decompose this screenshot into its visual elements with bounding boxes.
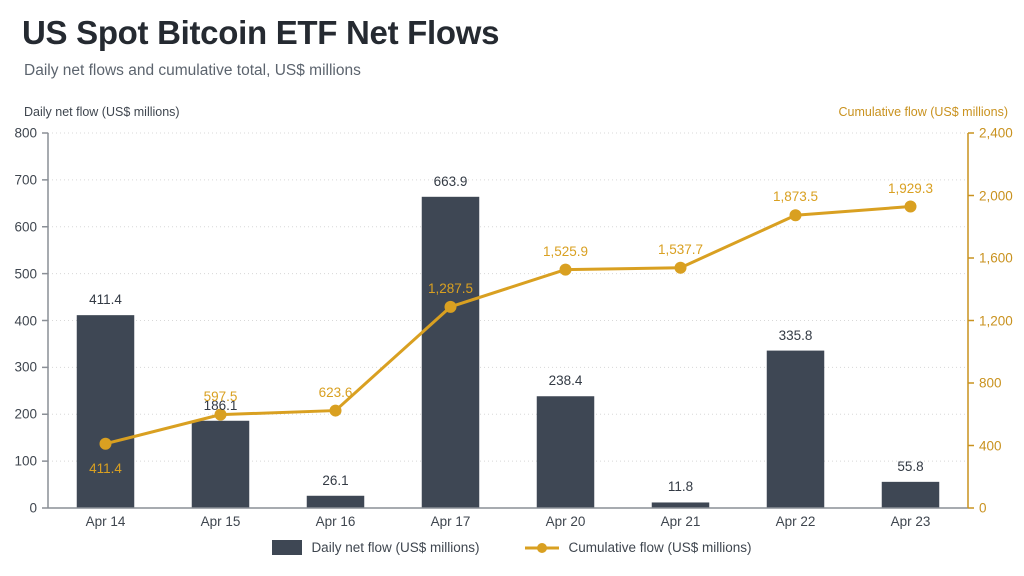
y2-axis-tick-label: 1,600 bbox=[979, 251, 1013, 266]
line-value-label: 411.4 bbox=[89, 461, 122, 476]
bar-value-label: 11.8 bbox=[668, 479, 693, 494]
y-axis-tick-label: 200 bbox=[0, 407, 37, 422]
bar-value-label: 26.1 bbox=[322, 473, 348, 488]
bar bbox=[537, 396, 595, 508]
x-axis-tick-label: Apr 23 bbox=[891, 514, 931, 529]
y-axis-tick-label: 100 bbox=[0, 454, 37, 469]
x-axis-tick-label: Apr 16 bbox=[316, 514, 356, 529]
line-marker bbox=[560, 264, 572, 276]
gridlines bbox=[48, 133, 968, 461]
line-value-label: 1,537.7 bbox=[658, 242, 703, 257]
line-marker bbox=[675, 262, 687, 274]
legend-line-marker-icon bbox=[525, 541, 559, 555]
line-marker bbox=[330, 405, 342, 417]
y-axis-tick-label: 800 bbox=[0, 126, 37, 141]
line-value-label: 1,525.9 bbox=[543, 244, 588, 259]
bar-value-label: 663.9 bbox=[434, 174, 468, 189]
legend-label: Daily net flow (US$ millions) bbox=[311, 540, 479, 555]
line-marker bbox=[905, 201, 917, 213]
line-marker bbox=[445, 301, 457, 313]
x-axis-tick-label: Apr 21 bbox=[661, 514, 701, 529]
y2-axis-tick-label: 2,000 bbox=[979, 188, 1013, 203]
bar bbox=[192, 421, 250, 508]
bar-value-label: 335.8 bbox=[779, 328, 813, 343]
right-axis-title: Cumulative flow (US$ millions) bbox=[839, 105, 1009, 119]
y2-axis-tick-label: 1,200 bbox=[979, 313, 1013, 328]
line-marker bbox=[100, 438, 112, 450]
bar bbox=[767, 351, 825, 508]
plot-svg bbox=[48, 133, 968, 508]
page-title: US Spot Bitcoin ETF Net Flows bbox=[22, 14, 499, 52]
line-value-label: 1,873.5 bbox=[773, 189, 818, 204]
x-axis-tick-label: Apr 14 bbox=[86, 514, 126, 529]
legend-item-daily-net-flow[interactable]: Daily net flow (US$ millions) bbox=[272, 540, 479, 555]
line-value-label: 623.6 bbox=[319, 385, 353, 400]
x-axis-tick-label: Apr 15 bbox=[201, 514, 241, 529]
legend-bar-swatch-icon bbox=[272, 540, 302, 555]
y2-axis-tick-label: 0 bbox=[979, 501, 987, 516]
y-axis-tick-label: 300 bbox=[0, 360, 37, 375]
line-value-label: 597.5 bbox=[204, 389, 238, 404]
plot-area bbox=[48, 133, 968, 508]
legend-item-cumulative-flow[interactable]: Cumulative flow (US$ millions) bbox=[525, 540, 751, 555]
bar bbox=[77, 315, 135, 508]
bar bbox=[652, 502, 710, 508]
y-axis-tick-label: 600 bbox=[0, 219, 37, 234]
legend-label: Cumulative flow (US$ millions) bbox=[568, 540, 751, 555]
y-axis-tick-label: 700 bbox=[0, 172, 37, 187]
line-marker bbox=[790, 209, 802, 221]
y-axis-tick-label: 400 bbox=[0, 313, 37, 328]
bar-value-label: 55.8 bbox=[897, 459, 923, 474]
line-value-label: 1,287.5 bbox=[428, 281, 473, 296]
bar bbox=[307, 496, 365, 508]
x-axis-tick-label: Apr 17 bbox=[431, 514, 471, 529]
bar bbox=[882, 482, 940, 508]
y-axis-tick-label: 500 bbox=[0, 266, 37, 281]
line-value-label: 1,929.3 bbox=[888, 181, 933, 196]
x-axis-tick-label: Apr 22 bbox=[776, 514, 816, 529]
x-axis-tick-label: Apr 20 bbox=[546, 514, 586, 529]
page-subtitle: Daily net flows and cumulative total, US… bbox=[24, 62, 361, 80]
bar bbox=[422, 197, 480, 508]
y2-axis-tick-label: 2,400 bbox=[979, 126, 1013, 141]
bar-value-label: 411.4 bbox=[89, 292, 122, 307]
bar-value-label: 238.4 bbox=[549, 373, 583, 388]
legend: Daily net flow (US$ millions) Cumulative… bbox=[0, 540, 1024, 555]
y2-axis-tick-label: 400 bbox=[979, 438, 1002, 453]
y-axis-tick-label: 0 bbox=[0, 501, 37, 516]
y2-axis-tick-label: 800 bbox=[979, 376, 1002, 391]
left-axis-title: Daily net flow (US$ millions) bbox=[24, 105, 180, 119]
